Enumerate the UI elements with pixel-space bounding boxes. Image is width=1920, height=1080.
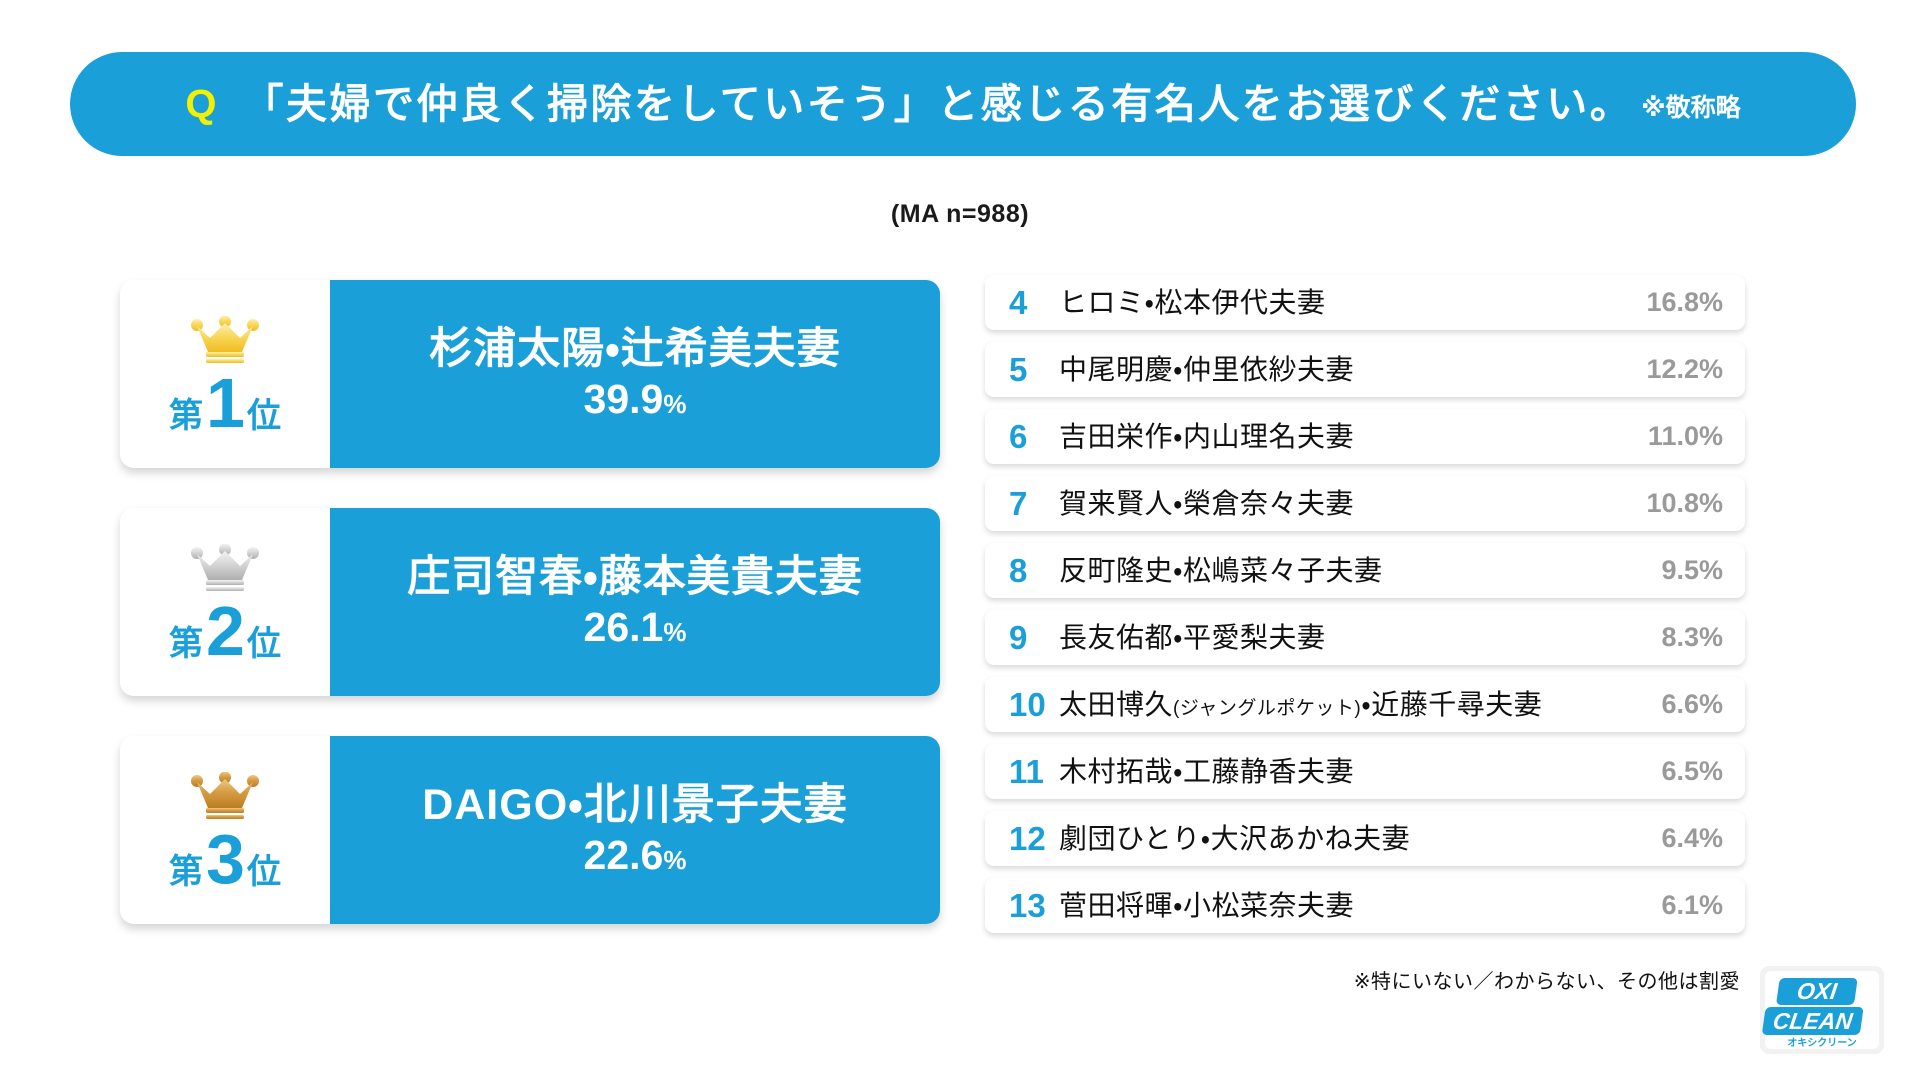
svg-text:オキシクリーン: オキシクリーン (1787, 1037, 1857, 1049)
rank-number: 7 (1009, 487, 1055, 520)
list-item: 4 ヒロミ・松本伊代夫妻 16.8% (985, 275, 1745, 330)
percent-unit: % (663, 845, 686, 875)
rank-number: 9 (1009, 621, 1055, 654)
celebrity-name: 杉浦太陽・辻希美夫妻 (429, 326, 841, 373)
rank-number: 12 (1009, 822, 1055, 855)
percentage-value: 6.4% (1615, 825, 1723, 852)
ranking-card-body: DAIGO・北川景子夫妻 22.6% (330, 736, 940, 924)
celebrity-name: 劇団ひとり・大沢あかね夫妻 (1055, 825, 1615, 853)
celebrity-name: DAIGO・北川景子夫妻 (422, 782, 848, 829)
percentage-value: 39.9% (584, 377, 687, 422)
rank-label: 第 3 位 (169, 824, 281, 894)
ranking-card-body: 杉浦太陽・辻希美夫妻 39.9% (330, 280, 940, 468)
list-item: 11 木村拓哉・工藤静香夫妻 6.5% (985, 744, 1745, 799)
percentage-value: 22.6% (584, 833, 687, 878)
rank-number: 8 (1009, 554, 1055, 587)
ranking-card-body: 庄司智春・藤本美貴夫妻 26.1% (330, 508, 940, 696)
celebrity-name: 中尾明慶・仲里依紗夫妻 (1055, 356, 1615, 384)
list-item: 6 吉田栄作・内山理名夫妻 11.0% (985, 409, 1745, 464)
group-name: (ジャングルポケット) (1173, 698, 1361, 719)
oxiclean-logo: OXI CLEAN オキシクリーン (1758, 962, 1886, 1058)
percentage-value: 16.8% (1615, 289, 1723, 316)
bronze-crown-icon (188, 772, 262, 820)
rank-number: 5 (1009, 353, 1055, 386)
ranking-card: 第 2 位 庄司智春・藤本美貴夫妻 26.1% (120, 508, 940, 696)
celebrity-name-tail: ・近藤千尋夫妻 (1361, 689, 1542, 720)
celebrity-name: 庄司智春・藤本美貴夫妻 (407, 554, 863, 601)
celebrity-name: 長友佑都・平愛梨夫妻 (1055, 624, 1615, 652)
silver-crown-icon (188, 544, 262, 592)
question-banner: Q 「夫婦で仲良く掃除をしていそう」と感じる有名人をお選びください。 ※敬称略 (70, 52, 1856, 156)
honorific-note: ※敬称略 (1641, 88, 1740, 121)
rank-number: 10 (1009, 688, 1055, 721)
percentage-value: 10.8% (1615, 490, 1723, 517)
list-item: 13 菅田将暉・小松菜奈夫妻 6.1% (985, 878, 1745, 933)
percent-unit: % (663, 617, 686, 647)
list-item: 8 反町隆史・松嶋菜々子夫妻 9.5% (985, 543, 1745, 598)
top3-ranking-group: 第 1 位 杉浦太陽・辻希美夫妻 39.9% (120, 280, 940, 964)
rank-badge: 第 3 位 (120, 736, 330, 924)
percentage-value: 8.3% (1615, 624, 1723, 651)
celebrity-name: ヒロミ・松本伊代夫妻 (1055, 289, 1615, 317)
percent-unit: % (663, 389, 686, 419)
gold-crown-icon (188, 316, 262, 364)
percentage-value: 9.5% (1615, 557, 1723, 584)
percentage-value: 6.5% (1615, 758, 1723, 785)
sample-size-label: (MA n=988) (0, 200, 1920, 229)
rank-badge: 第 2 位 (120, 508, 330, 696)
percentage-value: 6.6% (1615, 691, 1723, 718)
rank-label: 第 2 位 (169, 596, 281, 666)
percentage-value: 26.1% (584, 605, 687, 650)
percentage-value: 6.1% (1615, 892, 1723, 919)
celebrity-name: 太田博久(ジャングルポケット)・近藤千尋夫妻 (1055, 691, 1615, 719)
question-mark-icon: Q (185, 84, 216, 124)
footnote: ※特にいない／わからない、その他は割愛 (1280, 965, 1740, 994)
ranking-list: 4 ヒロミ・松本伊代夫妻 16.8% 5 中尾明慶・仲里依紗夫妻 12.2% 6… (985, 275, 1745, 945)
ranking-card: 第 1 位 杉浦太陽・辻希美夫妻 39.9% (120, 280, 940, 468)
celebrity-name: 菅田将暉・小松菜奈夫妻 (1055, 892, 1615, 920)
celebrity-name: 反町隆史・松嶋菜々子夫妻 (1055, 557, 1615, 585)
ranking-card: 第 3 位 DAIGO・北川景子夫妻 22.6% (120, 736, 940, 924)
rank-number: 11 (1009, 755, 1055, 788)
list-item: 5 中尾明慶・仲里依紗夫妻 12.2% (985, 342, 1745, 397)
list-item: 10 太田博久(ジャングルポケット)・近藤千尋夫妻 6.6% (985, 677, 1745, 732)
percentage-value: 11.0% (1615, 423, 1723, 450)
rank-label: 第 1 位 (169, 368, 281, 438)
page-title: 「夫婦で仲良く掃除をしていそう」と感じる有名人をお選びください。 (243, 84, 1634, 125)
list-item: 12 劇団ひとり・大沢あかね夫妻 6.4% (985, 811, 1745, 866)
svg-text:CLEAN: CLEAN (1771, 1008, 1855, 1034)
rank-number: 4 (1009, 286, 1055, 319)
rank-badge: 第 1 位 (120, 280, 330, 468)
percentage-value: 12.2% (1615, 356, 1723, 383)
celebrity-name: 吉田栄作・内山理名夫妻 (1055, 423, 1615, 451)
rank-number: 6 (1009, 420, 1055, 453)
list-item: 9 長友佑都・平愛梨夫妻 8.3% (985, 610, 1745, 665)
rank-number: 13 (1009, 889, 1055, 922)
celebrity-name: 賀来賢人・榮倉奈々夫妻 (1055, 490, 1615, 518)
list-item: 7 賀来賢人・榮倉奈々夫妻 10.8% (985, 476, 1745, 531)
celebrity-name: 木村拓哉・工藤静香夫妻 (1055, 758, 1615, 786)
svg-text:OXI: OXI (1795, 978, 1839, 1004)
